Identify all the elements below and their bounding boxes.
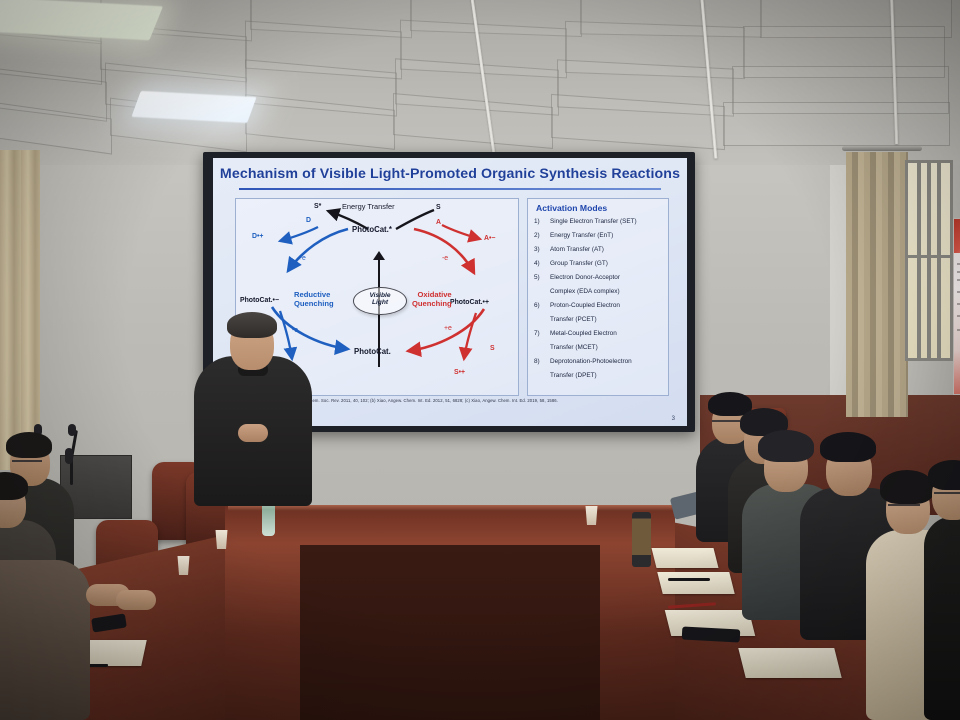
visible-light-label: Visible Light (354, 292, 406, 307)
label-acceptor: A (436, 219, 441, 226)
label-catalyst-radical-anion: PhotoCat.•− (240, 297, 279, 304)
thermos-flask[interactable] (632, 512, 651, 567)
label-reductive-quenching: Reductive Quenching (294, 291, 334, 308)
label-electron-upper-right: -e (442, 255, 448, 262)
visible-light-line1: Visible (369, 292, 390, 299)
label-oxidative-quenching: Oxidative Quenching (412, 291, 452, 308)
notebook[interactable] (652, 548, 719, 568)
label-electron-lower-right: +e (444, 325, 452, 332)
conference-room-scene: Mechanism of Visible Light-Promoted Orga… (0, 0, 960, 720)
label-electron-upper-left: +e (298, 255, 306, 262)
label-catalyst-radical-cation: PhotoCat.•+ (450, 299, 489, 306)
activation-modes-heading: Activation Modes (536, 203, 607, 213)
audience-member-left (0, 540, 90, 720)
slide-page-number: 3 (672, 416, 675, 422)
mode-text: Atom Transfer (AT) (550, 247, 670, 254)
mode-text: Deprotonation-Photoelectron (550, 359, 670, 366)
eyeglasses (888, 504, 920, 506)
mode-text: Transfer (DPET) (550, 373, 670, 380)
slide-title: Mechanism of Visible Light-Promoted Orga… (213, 166, 687, 182)
eyeglasses (934, 492, 960, 494)
reductive-line1: Reductive (294, 290, 330, 299)
mode-text: Single Electron Transfer (SET) (550, 219, 670, 226)
reductive-line2: Quenching (294, 299, 334, 308)
label-excited-substrate: S* (314, 203, 321, 210)
poster-header (954, 219, 960, 253)
mode-text: Metal-Coupled Electron (550, 331, 670, 338)
activation-modes-panel: Activation Modes 1) Single Electron Tran… (527, 198, 669, 396)
curtain-left (0, 150, 40, 470)
drop-ceiling (0, 0, 960, 165)
label-substrate-top-right: S (436, 204, 441, 211)
mode-text: Electron Donor-Acceptor (550, 275, 670, 282)
oxidative-line1: Oxidative (417, 290, 451, 299)
pen[interactable] (668, 578, 710, 581)
mode-number: 2) (534, 233, 546, 240)
mode-number: 5) (534, 275, 546, 282)
label-energy-transfer: Energy Transfer (342, 202, 395, 211)
mode-number: 1) (534, 219, 546, 226)
label-substrate-bottom-right: S (490, 345, 495, 352)
conference-table-center-well (300, 545, 600, 720)
mode-number: 4) (534, 261, 546, 268)
visible-light-oval: Visible Light (353, 287, 407, 315)
wall-poster (953, 218, 960, 395)
presenter-hands (238, 424, 268, 442)
mode-number: 3) (534, 247, 546, 254)
label-excited-catalyst: PhotoCat.* (352, 225, 392, 234)
hair (820, 432, 876, 462)
presenter-hair (227, 312, 277, 338)
mode-text: Transfer (PCET) (550, 317, 670, 324)
audience-member-right (924, 460, 960, 720)
notebook[interactable] (657, 572, 734, 594)
mode-number: 8) (534, 359, 546, 366)
label-acceptor-radical-anion: A•− (484, 235, 495, 242)
torso (924, 516, 960, 720)
mode-number: 7) (534, 331, 546, 338)
mode-text: Proton-Coupled Electron (550, 303, 670, 310)
torso (0, 560, 90, 720)
hair (928, 460, 960, 490)
title-divider (239, 188, 661, 190)
curtain-rod (842, 146, 922, 151)
presenter (194, 312, 312, 508)
oxidative-line2: Quenching (412, 299, 452, 308)
audience-hands (86, 584, 156, 620)
mode-text: Complex (EDA complex) (550, 289, 670, 296)
notebook[interactable] (738, 648, 841, 678)
mode-number: 6) (534, 303, 546, 310)
curtain-right (846, 152, 908, 417)
hair (6, 432, 52, 458)
mode-text: Energy Transfer (EnT) (550, 233, 670, 240)
label-donor-radical-cation: D•+ (252, 233, 263, 240)
label-substrate-radical-cation: S•+ (454, 369, 465, 376)
eyeglasses (12, 460, 42, 462)
hair (0, 472, 28, 500)
label-donor: D (306, 217, 311, 224)
label-ground-catalyst: PhotoCat. (354, 347, 391, 356)
mode-text: Transfer (MCET) (550, 345, 670, 352)
mode-text: Group Transfer (GT) (550, 261, 670, 268)
visible-light-line2: Light (372, 299, 388, 306)
window (905, 160, 953, 361)
